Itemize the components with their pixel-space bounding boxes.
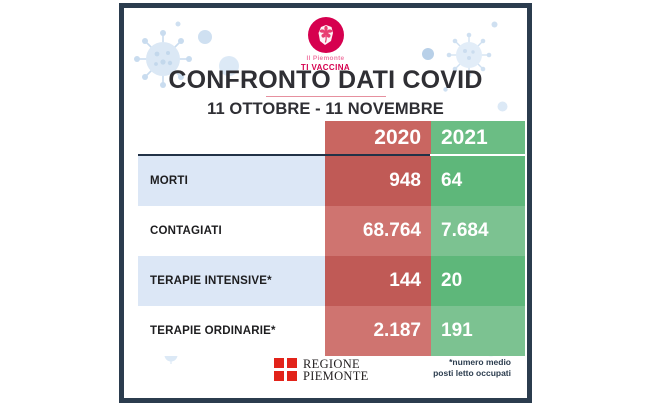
cell-2021: 20 xyxy=(431,256,525,306)
page-title: CONFRONTO DATI COVID xyxy=(124,67,527,94)
cell-2020: 68.764 xyxy=(325,206,431,256)
cell-2020: 2.187 xyxy=(325,306,431,356)
row-label: TERAPIE ORDINARIE* xyxy=(138,306,325,356)
table-header-row: 2020 2021 xyxy=(138,121,525,154)
table-row: TERAPIE ORDINARIE* 2.187 191 xyxy=(138,306,525,356)
footnote-line1: *numero medio xyxy=(433,357,511,368)
cell-2021: 191 xyxy=(431,306,525,356)
table-row: TERAPIE INTENSIVE* 144 20 xyxy=(138,256,525,306)
regione-line2: PIEMONTE xyxy=(303,370,369,382)
column-header-2021: 2021 xyxy=(431,121,525,154)
table-row: MORTI 948 64 xyxy=(138,156,525,206)
regione-piemonte-wordmark: REGIONE PIEMONTE xyxy=(303,358,369,382)
page-subtitle: 11 OTTOBRE - 11 NOVEMBRE xyxy=(124,100,527,119)
vaccine-badge-icon xyxy=(308,17,344,53)
vaccine-logo-line1: Il Piemonte xyxy=(307,55,345,63)
footnote: *numero medio posti letto occupati xyxy=(433,357,511,379)
column-header-2020: 2020 xyxy=(325,121,431,154)
regione-line1: REGIONE xyxy=(303,358,369,370)
row-label: CONTAGIATI xyxy=(138,206,325,256)
cell-2021: 64 xyxy=(431,156,525,206)
cell-2020: 144 xyxy=(325,256,431,306)
column-header-label xyxy=(138,121,325,154)
cell-2020: 948 xyxy=(325,156,431,206)
row-label: MORTI xyxy=(138,156,325,206)
regione-piemonte-emblem-icon xyxy=(273,357,298,382)
title-divider xyxy=(266,96,386,97)
footnote-line2: posti letto occupati xyxy=(433,368,511,379)
screenshot-root: Il Piemonte TI VACCINA CONFRONTO DATI CO… xyxy=(0,0,650,406)
table-row: CONTAGIATI 68.764 7.684 xyxy=(138,206,525,256)
cell-2021: 7.684 xyxy=(431,206,525,256)
covid-comparison-table: 2020 2021 MORTI 948 64 CONTAGIATI 68.764… xyxy=(138,121,525,356)
title-block: CONFRONTO DATI COVID 11 OTTOBRE - 11 NOV… xyxy=(124,67,527,119)
regione-piemonte-logo: REGIONE PIEMONTE xyxy=(273,357,369,382)
card-inner: Il Piemonte TI VACCINA CONFRONTO DATI CO… xyxy=(124,8,527,398)
infographic-card: Il Piemonte TI VACCINA CONFRONTO DATI CO… xyxy=(119,3,532,403)
vaccine-campaign-logo: Il Piemonte TI VACCINA xyxy=(124,17,527,72)
row-label: TERAPIE INTENSIVE* xyxy=(138,256,325,306)
footer: REGIONE PIEMONTE *numero medio posti let… xyxy=(138,355,513,389)
